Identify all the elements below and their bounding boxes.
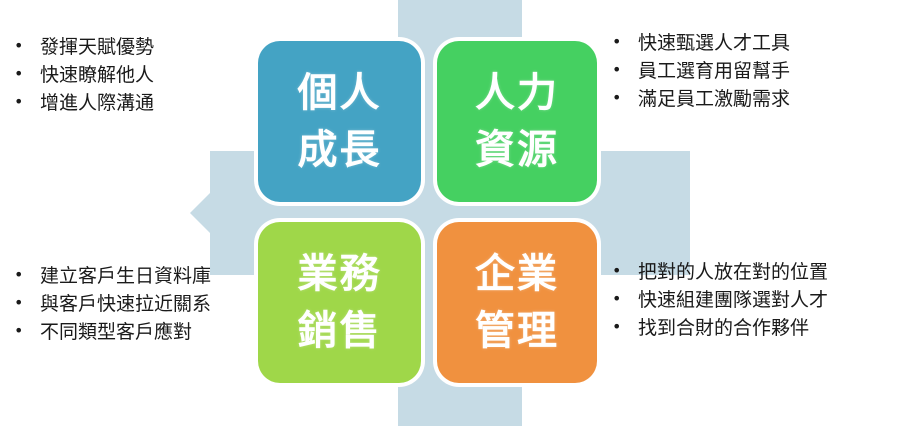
list-item: 快速甄選人才工具 [612,29,790,57]
arrow-up-head-icon [398,0,522,42]
list-item: 快速瞭解他人 [14,61,154,89]
quadrant-label-line1: 個人 [298,65,382,122]
quadrant-label-line2: 資源 [475,122,559,179]
quadrant-human-resources[interactable]: 人力 資源 [437,41,597,202]
list-item: 不同類型客戶應對 [14,318,211,346]
quadrant-label-line1: 人力 [475,65,559,122]
diagram-canvas: 個人 成長 人力 資源 業務 銷售 企業 管理 發揮天賦優勢 快速瞭解他人 增進… [0,0,901,426]
bullet-list-human-resources: 快速甄選人才工具 員工選育用留幫手 滿足員工激勵需求 [612,29,790,113]
bullet-list-personal-growth: 發揮天賦優勢 快速瞭解他人 增進人際溝通 [14,33,154,117]
arrow-down-head-icon [398,384,522,426]
list-item: 滿足員工激勵需求 [612,85,790,113]
quadrant-label-line1: 企業 [475,246,559,303]
quadrant-sales[interactable]: 業務 銷售 [258,222,421,383]
quadrant-enterprise-management[interactable]: 企業 管理 [437,222,597,383]
quadrant-personal-growth[interactable]: 個人 成長 [258,41,421,202]
bullet-list-enterprise-management: 把對的人放在對的位置 快速組建團隊選對人才 找到合財的合作夥伴 [612,258,828,342]
list-item: 把對的人放在對的位置 [612,258,828,286]
list-item: 找到合財的合作夥伴 [612,314,828,342]
list-item: 建立客戶生日資料庫 [14,262,211,290]
list-item: 發揮天賦優勢 [14,33,154,61]
list-item: 快速組建團隊選對人才 [612,286,828,314]
list-item: 增進人際溝通 [14,89,154,117]
quadrant-label-line1: 業務 [298,246,382,303]
quadrant-label-line2: 銷售 [298,303,382,360]
arrow-left-head-icon [190,151,252,275]
bullet-list-sales: 建立客戶生日資料庫 與客戶快速拉近關系 不同類型客戶應對 [14,262,211,346]
quadrant-label-line2: 成長 [298,122,382,179]
list-item: 員工選育用留幫手 [612,57,790,85]
list-item: 與客戶快速拉近關系 [14,290,211,318]
quadrant-label-line2: 管理 [475,303,559,360]
